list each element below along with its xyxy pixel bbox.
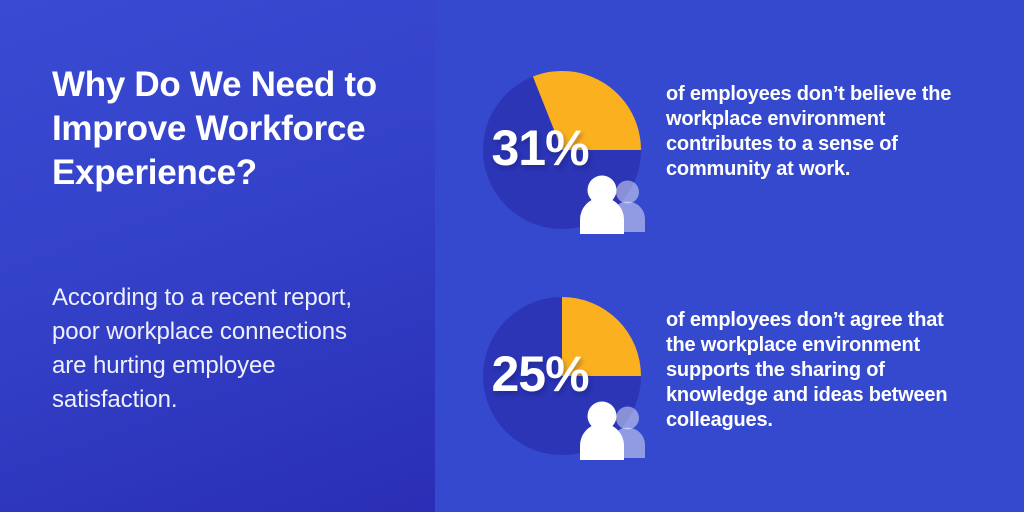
pie-chart-31: 31%: [482, 70, 642, 230]
stats-panel: 31% of employees don’t believe the workp…: [435, 0, 1024, 512]
left-panel: Why Do We Need to Improve Workforce Expe…: [0, 0, 435, 512]
infographic-canvas: Why Do We Need to Improve Workforce Expe…: [0, 0, 1024, 512]
stat-description: of employees don’t believe the workplace…: [666, 82, 966, 182]
intro-paragraph: According to a recent report, poor workp…: [52, 281, 362, 417]
stat-row: 31% of employees don’t believe the workp…: [435, 46, 1024, 272]
stat-description: of employees don’t agree that the workpl…: [666, 308, 966, 433]
people-icon: [572, 174, 650, 234]
stat-percent-value: 25%: [440, 346, 640, 402]
stat-row: 25% of employees don’t agree that the wo…: [435, 272, 1024, 498]
stat-percent-value: 31%: [440, 120, 640, 176]
page-title: Why Do We Need to Improve Workforce Expe…: [52, 63, 397, 195]
people-icon: [572, 400, 650, 460]
pie-chart-25: 25%: [482, 296, 642, 456]
